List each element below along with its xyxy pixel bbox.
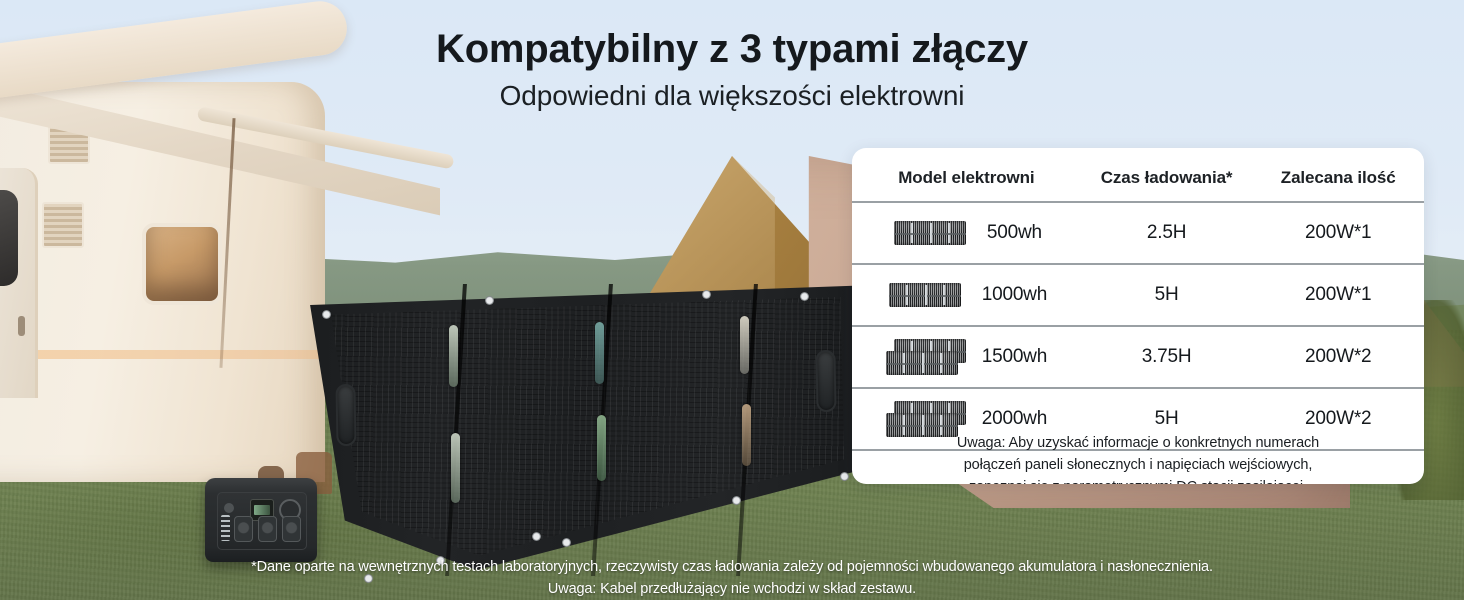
table-note-line-2: połączeń paneli słonecznych i napięciach… [886,455,1390,477]
panel-grommet [732,496,741,505]
table-note-line-3: zapoznaj się z parametrycznymi DC stacji… [886,477,1390,485]
ac-socket-row [234,514,301,544]
table-body: 500wh 2.5H 200W*1 1000wh [852,202,1424,450]
panel-grommet [322,310,331,319]
rv-vent-lower [42,202,84,248]
column-header-model: Model elektrowni [852,148,1081,202]
table-note-line-1: Uwaga: Aby uzyskać informacje o konkretn… [886,433,1390,455]
ac-socket [258,516,277,542]
compatibility-table: Model elektrowni Czas ładowania* Zalecan… [852,148,1424,451]
footer-disclaimer: *Dane oparte na wewnętrznych testach lab… [0,556,1464,600]
ac-socket [234,516,253,542]
page-subtitle: Odpowiedni dla większości elektrowni [0,80,1464,112]
compatibility-table-card: Model elektrowni Czas ładowania* Zalecan… [852,148,1424,484]
cell-model: 500wh [852,202,1081,264]
panel-slot [449,325,458,387]
model-value: 500wh [987,222,1042,244]
panel-grommet [562,538,571,547]
rv-window [142,223,222,305]
battery-level-indicator [221,515,230,541]
panel-grommet [485,296,494,305]
panel-slot [451,433,460,503]
panel-grommet [702,290,711,299]
column-header-charging-time: Czas ładowania* [1081,148,1253,202]
table-header-row: Model elektrowni Czas ładowania* Zalecan… [852,148,1424,202]
panel-carry-handle [335,384,356,446]
table-header: Model elektrowni Czas ładowania* Zalecan… [852,148,1424,202]
single-panel-icon [886,275,964,315]
model-value: 1500wh [982,346,1047,368]
cell-recommended-quantity: 200W*1 [1252,202,1424,264]
panel-carry-handle [815,350,836,412]
ac-socket [282,516,301,542]
cell-recommended-quantity: 200W*1 [1252,264,1424,326]
model-value: 1000wh [982,284,1047,306]
rv-door [0,168,38,398]
cell-charging-time: 5H [1081,264,1253,326]
rv-door-window [0,190,18,286]
banner-headings: Kompatybilny z 3 typami złączy Odpowiedn… [0,26,1464,112]
cell-model: 1000wh [852,264,1081,326]
cell-recommended-quantity: 200W*2 [1252,326,1424,388]
rv-door-handle [18,316,25,336]
promo-banner: Kompatybilny z 3 typami złączy Odpowiedn… [0,0,1464,600]
cell-charging-time: 3.75H [1081,326,1253,388]
model-value: 2000wh [982,408,1047,430]
panel-slot [740,316,749,374]
double-panel-icon [886,337,964,377]
cell-model: 1500wh [852,326,1081,388]
table-row: 500wh 2.5H 200W*1 [852,202,1424,264]
column-header-recommended-quantity: Zalecana ilość [1252,148,1424,202]
single-panel-icon [891,213,969,253]
cell-charging-time: 2.5H [1081,202,1253,264]
page-title: Kompatybilny z 3 typami złączy [0,26,1464,72]
power-button-icon [224,503,234,513]
panel-slot [595,322,604,384]
power-station-face [217,492,307,550]
table-note: Uwaga: Aby uzyskać informacje o konkretn… [852,433,1424,484]
table-row: 1500wh 3.75H 200W*2 [852,326,1424,388]
panel-grommet [800,292,809,301]
table-row: 1000wh 5H 200W*1 [852,264,1424,326]
panel-slot [742,404,751,466]
folding-solar-panel [300,284,860,576]
panel-grommet [532,532,541,541]
panel-slot [597,415,606,481]
disclaimer-line-2: Uwaga: Kabel przedłużający nie wchodzi w… [0,578,1464,600]
panel-grommet [840,472,849,481]
disclaimer-line-1: *Dane oparte na wewnętrznych testach lab… [0,556,1464,578]
